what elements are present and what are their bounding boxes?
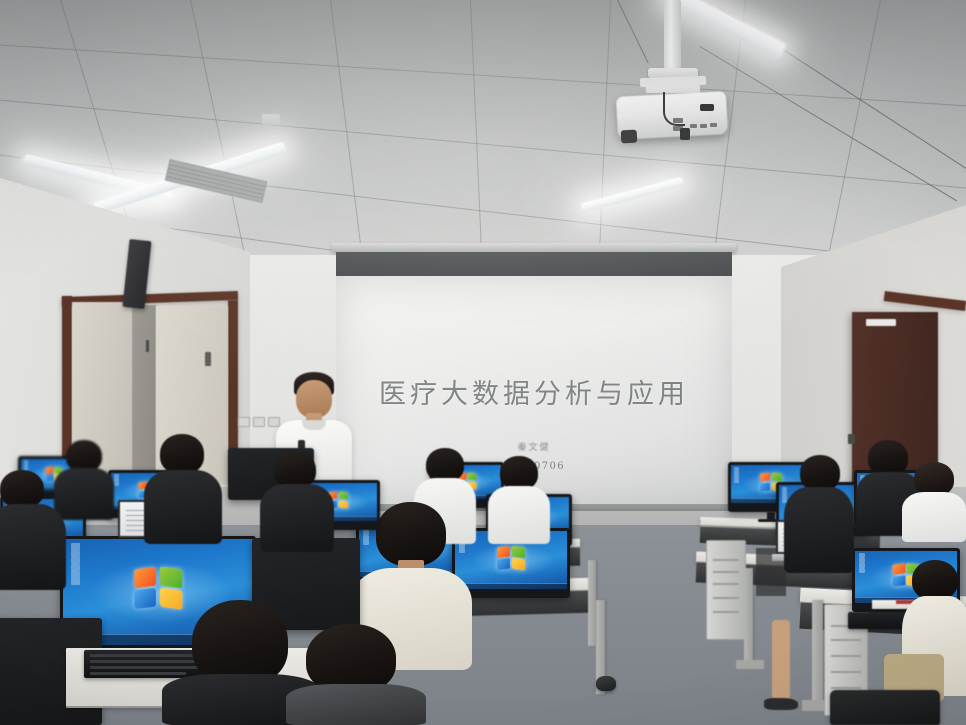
student bbox=[900, 462, 966, 542]
windows-logo bbox=[497, 546, 525, 569]
desktop-icons bbox=[734, 467, 739, 483]
student-torso bbox=[902, 492, 966, 542]
desk-foot bbox=[736, 660, 764, 669]
desk-leg bbox=[812, 600, 823, 704]
mouse[interactable] bbox=[596, 676, 616, 691]
slide-title: 医疗大数据分析与应用 bbox=[379, 372, 689, 411]
desktop-tower bbox=[706, 540, 746, 640]
screen-top-band bbox=[336, 252, 732, 276]
student-head bbox=[0, 470, 44, 508]
desk-leg bbox=[588, 560, 596, 646]
student-torso bbox=[144, 470, 222, 544]
student-shoe bbox=[764, 698, 798, 710]
student-head bbox=[800, 455, 840, 491]
student-leg bbox=[772, 620, 790, 700]
student-torso bbox=[286, 684, 426, 725]
student-torso bbox=[260, 484, 334, 552]
student-torso bbox=[784, 487, 854, 573]
student-torso bbox=[0, 504, 66, 590]
student-head bbox=[160, 434, 204, 474]
desktop-icons bbox=[71, 543, 80, 585]
desk-leg bbox=[744, 568, 753, 664]
student-torso bbox=[488, 486, 550, 544]
desktop-icons bbox=[859, 553, 865, 573]
student bbox=[486, 456, 550, 544]
taskbar bbox=[455, 583, 567, 589]
student-head bbox=[500, 456, 538, 490]
student-head bbox=[914, 462, 954, 496]
student-head bbox=[274, 452, 316, 488]
student-head bbox=[912, 560, 958, 600]
student bbox=[0, 470, 66, 590]
screen-roller-housing bbox=[332, 243, 736, 252]
student-head bbox=[376, 502, 446, 566]
student bbox=[146, 434, 220, 544]
student bbox=[782, 455, 856, 573]
student bbox=[296, 624, 416, 725]
chair[interactable] bbox=[830, 690, 940, 725]
desktop-icons bbox=[114, 474, 119, 486]
student-head bbox=[426, 448, 464, 482]
student bbox=[262, 452, 332, 552]
lamp-housing bbox=[262, 114, 280, 125]
slide-author: 秦文健 bbox=[517, 440, 550, 453]
classroom-photo: 医疗大数据分析与应用 秦文健 20210706 bbox=[0, 0, 966, 725]
